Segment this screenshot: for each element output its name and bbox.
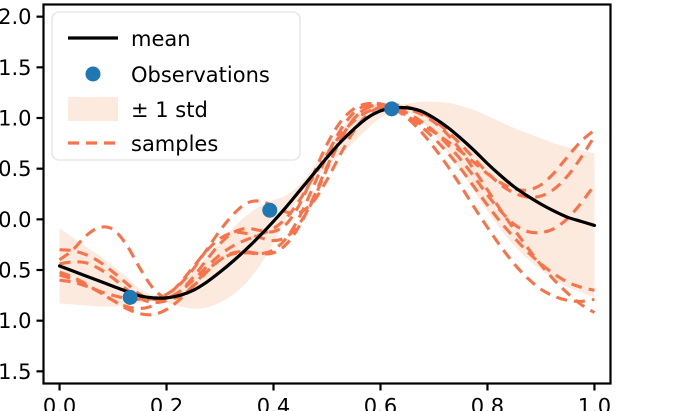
gaussian-process-plot: 0.00.20.40.60.81.0 1.51.00.50.00.51.01.5…: [0, 0, 683, 411]
x-tick-label: 0.4: [257, 395, 290, 411]
y-tick-label: 2.0: [0, 5, 32, 29]
figure-canvas: 0.00.20.40.60.81.0 1.51.00.50.00.51.01.5…: [0, 0, 683, 411]
x-tick-label: 0.8: [471, 395, 504, 411]
x-tick-label: 0.2: [150, 395, 183, 411]
observation-point: [384, 101, 399, 116]
y-tick-label: 0.5: [0, 157, 32, 181]
y-tick-label: 0.0: [0, 208, 32, 232]
legend-swatch-observations: [86, 67, 101, 82]
y-tick-label: 1.5: [0, 56, 32, 80]
y-tick-label: 0.5: [0, 259, 32, 283]
legend-label: samples: [131, 132, 218, 156]
observation-point: [123, 290, 138, 305]
legend-label: Observations: [131, 63, 270, 87]
x-tick-label: 0.0: [43, 395, 76, 411]
y-tick-label: 1.5: [0, 360, 32, 384]
legend: meanObservations± 1 stdsamples: [52, 12, 300, 160]
x-tick-label: 1.0: [578, 395, 611, 411]
legend-label: ± 1 std: [131, 98, 208, 122]
legend-label: mean: [131, 27, 191, 51]
legend-swatch-std: [68, 97, 118, 121]
y-tick-label: 1.0: [0, 309, 32, 333]
observation-point: [262, 203, 277, 218]
y-tick-label: 1.0: [0, 107, 32, 131]
x-tick-label: 0.6: [364, 395, 397, 411]
